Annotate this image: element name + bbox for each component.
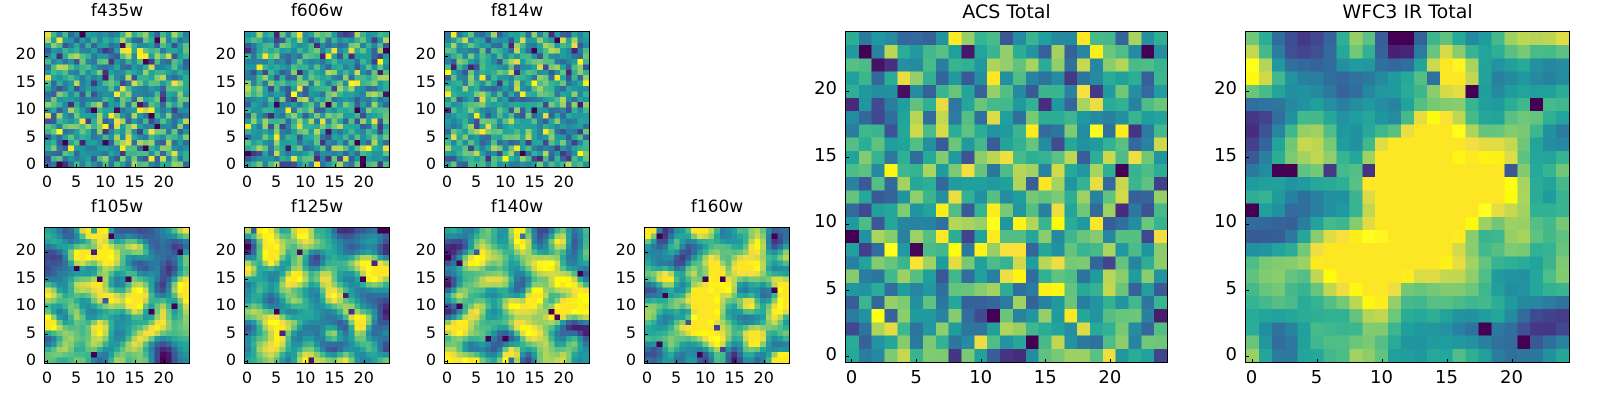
xtick-mark-f160w-15 xyxy=(735,360,736,364)
xtick-label-wfc3-ir-total-20: 20 xyxy=(1487,369,1537,387)
xtick-mark-f814w-5 xyxy=(476,164,477,168)
heatmap-image-f125w xyxy=(245,228,389,363)
ytick-label-f814w-10: 10 xyxy=(384,101,436,117)
xtick-mark-f160w-5 xyxy=(676,360,677,364)
xtick-mark-acs-total-5 xyxy=(916,359,917,363)
ytick-label-acs-total-10: 10 xyxy=(785,213,837,231)
xtick-mark-f814w-20 xyxy=(564,164,565,168)
xtick-label-f606w-20: 20 xyxy=(339,174,389,190)
xtick-label-wfc3-ir-total-0: 0 xyxy=(1227,369,1277,387)
panel-f140w: f140w0510152005101520 xyxy=(384,199,610,396)
panel-f105w: f105w0510152005101520 xyxy=(0,199,210,396)
ytick-mark-acs-total-5 xyxy=(845,290,849,291)
ytick-mark-f814w-10 xyxy=(444,110,448,111)
ytick-mark-f435w-20 xyxy=(44,56,48,57)
xtick-label-acs-total-20: 20 xyxy=(1085,369,1135,387)
xtick-label-wfc3-ir-total-10: 10 xyxy=(1357,369,1407,387)
panel-title-wfc3-ir-total: WFC3 IR Total xyxy=(1245,3,1570,22)
xtick-mark-acs-total-0 xyxy=(851,359,852,363)
ytick-label-f814w-5: 5 xyxy=(384,129,436,145)
ytick-label-f160w-15: 15 xyxy=(584,270,636,286)
ytick-label-f435w-5: 5 xyxy=(0,129,36,145)
figure-canvas: f435w0510152005101520f606w05101520051015… xyxy=(0,0,1600,400)
panel-f814w: f814w0510152005101520 xyxy=(384,3,610,200)
heatmap-axes-wfc3-ir-total xyxy=(1245,31,1570,363)
ytick-mark-f105w-20 xyxy=(44,252,48,253)
heatmap-image-f435w xyxy=(45,32,189,167)
panel-title-f606w: f606w xyxy=(244,3,390,20)
xtick-label-wfc3-ir-total-5: 5 xyxy=(1292,369,1342,387)
ytick-label-f814w-20: 20 xyxy=(384,46,436,62)
heatmap-axes-f606w xyxy=(244,31,390,168)
heatmap-axes-f125w xyxy=(244,227,390,364)
ytick-mark-f606w-10 xyxy=(244,110,248,111)
ytick-label-f435w-10: 10 xyxy=(0,101,36,117)
ytick-label-wfc3-ir-total-10: 10 xyxy=(1185,213,1237,231)
ytick-label-f435w-15: 15 xyxy=(0,74,36,90)
ytick-label-f160w-20: 20 xyxy=(584,242,636,258)
xtick-mark-f125w-10 xyxy=(305,360,306,364)
ytick-mark-f105w-5 xyxy=(44,334,48,335)
ytick-mark-f814w-5 xyxy=(444,138,448,139)
xtick-label-acs-total-5: 5 xyxy=(891,369,941,387)
panel-title-f814w: f814w xyxy=(444,3,590,20)
ytick-label-f606w-0: 0 xyxy=(184,156,236,172)
xtick-mark-wfc3-ir-total-20 xyxy=(1512,359,1513,363)
panel-f125w: f125w0510152005101520 xyxy=(184,199,410,396)
ytick-mark-acs-total-10 xyxy=(845,224,849,225)
heatmap-image-f814w xyxy=(445,32,589,167)
xtick-label-acs-total-10: 10 xyxy=(956,369,1006,387)
heatmap-image-f606w xyxy=(245,32,389,167)
panel-acs-total: ACS Total0510152005101520 xyxy=(785,3,1188,395)
xtick-mark-f435w-15 xyxy=(135,164,136,168)
ytick-label-f160w-0: 0 xyxy=(584,352,636,368)
xtick-mark-f105w-5 xyxy=(76,360,77,364)
ytick-mark-f435w-15 xyxy=(44,83,48,84)
ytick-label-f105w-20: 20 xyxy=(0,242,36,258)
panel-f435w: f435w0510152005101520 xyxy=(0,3,210,200)
ytick-label-f160w-10: 10 xyxy=(584,297,636,313)
heatmap-axes-f140w xyxy=(444,227,590,364)
ytick-mark-wfc3-ir-total-20 xyxy=(1245,91,1249,92)
xtick-label-f105w-20: 20 xyxy=(139,370,189,386)
xtick-mark-f125w-15 xyxy=(335,360,336,364)
ytick-label-f606w-10: 10 xyxy=(184,101,236,117)
xtick-mark-wfc3-ir-total-10 xyxy=(1382,359,1383,363)
xtick-mark-wfc3-ir-total-5 xyxy=(1317,359,1318,363)
panel-f160w: f160w0510152005101520 xyxy=(584,199,810,396)
ytick-label-f435w-0: 0 xyxy=(0,156,36,172)
panel-title-f140w: f140w xyxy=(444,199,590,216)
xtick-mark-f160w-10 xyxy=(705,360,706,364)
xtick-label-f140w-20: 20 xyxy=(539,370,589,386)
panel-title-f105w: f105w xyxy=(44,199,190,216)
ytick-mark-f435w-5 xyxy=(44,138,48,139)
heatmap-axes-f160w xyxy=(644,227,790,364)
ytick-label-wfc3-ir-total-20: 20 xyxy=(1185,80,1237,98)
xtick-mark-f105w-0 xyxy=(47,360,48,364)
heatmap-axes-acs-total xyxy=(845,31,1168,363)
heatmap-image-f105w xyxy=(45,228,189,363)
heatmap-image-acs-total xyxy=(846,32,1167,362)
panel-title-acs-total: ACS Total xyxy=(845,3,1168,22)
ytick-mark-f435w-10 xyxy=(44,110,48,111)
xtick-mark-f435w-0 xyxy=(47,164,48,168)
xtick-mark-f606w-5 xyxy=(276,164,277,168)
ytick-label-f105w-5: 5 xyxy=(0,325,36,341)
xtick-label-f814w-20: 20 xyxy=(539,174,589,190)
xtick-label-wfc3-ir-total-15: 15 xyxy=(1422,369,1472,387)
xtick-mark-f606w-20 xyxy=(364,164,365,168)
ytick-label-f140w-10: 10 xyxy=(384,297,436,313)
ytick-mark-f125w-20 xyxy=(244,252,248,253)
panel-title-f160w: f160w xyxy=(644,199,790,216)
ytick-mark-f160w-20 xyxy=(644,252,648,253)
xtick-mark-f125w-5 xyxy=(276,360,277,364)
ytick-label-f435w-20: 20 xyxy=(0,46,36,62)
xtick-mark-f140w-10 xyxy=(505,360,506,364)
ytick-label-f140w-15: 15 xyxy=(384,270,436,286)
xtick-mark-f814w-0 xyxy=(447,164,448,168)
ytick-label-f125w-0: 0 xyxy=(184,352,236,368)
ytick-label-f105w-0: 0 xyxy=(0,352,36,368)
ytick-label-acs-total-15: 15 xyxy=(785,147,837,165)
xtick-label-f125w-20: 20 xyxy=(339,370,389,386)
ytick-label-f814w-15: 15 xyxy=(384,74,436,90)
ytick-label-acs-total-5: 5 xyxy=(785,280,837,298)
ytick-mark-f606w-15 xyxy=(244,83,248,84)
ytick-mark-f160w-15 xyxy=(644,279,648,280)
heatmap-axes-f435w xyxy=(44,31,190,168)
heatmap-image-wfc3-ir-total xyxy=(1246,32,1569,362)
ytick-label-wfc3-ir-total-5: 5 xyxy=(1185,280,1237,298)
ytick-mark-f125w-10 xyxy=(244,306,248,307)
ytick-label-wfc3-ir-total-15: 15 xyxy=(1185,147,1237,165)
xtick-mark-f105w-20 xyxy=(164,360,165,364)
ytick-mark-acs-total-0 xyxy=(845,356,849,357)
xtick-label-f160w-20: 20 xyxy=(739,370,789,386)
ytick-label-acs-total-0: 0 xyxy=(785,346,837,364)
xtick-mark-f435w-10 xyxy=(105,164,106,168)
ytick-mark-acs-total-15 xyxy=(845,157,849,158)
xtick-mark-acs-total-15 xyxy=(1045,359,1046,363)
ytick-label-f606w-15: 15 xyxy=(184,74,236,90)
xtick-mark-wfc3-ir-total-0 xyxy=(1252,359,1253,363)
ytick-label-f140w-5: 5 xyxy=(384,325,436,341)
xtick-mark-f140w-5 xyxy=(476,360,477,364)
xtick-mark-f606w-0 xyxy=(247,164,248,168)
ytick-mark-wfc3-ir-total-15 xyxy=(1245,157,1249,158)
ytick-label-f606w-5: 5 xyxy=(184,129,236,145)
xtick-mark-f125w-20 xyxy=(364,360,365,364)
xtick-mark-f814w-10 xyxy=(505,164,506,168)
ytick-mark-f160w-5 xyxy=(644,334,648,335)
ytick-mark-f140w-10 xyxy=(444,306,448,307)
ytick-label-f125w-20: 20 xyxy=(184,242,236,258)
ytick-mark-f606w-20 xyxy=(244,56,248,57)
ytick-label-f125w-15: 15 xyxy=(184,270,236,286)
ytick-mark-f814w-20 xyxy=(444,56,448,57)
ytick-mark-f160w-10 xyxy=(644,306,648,307)
ytick-label-f606w-20: 20 xyxy=(184,46,236,62)
ytick-mark-f606w-5 xyxy=(244,138,248,139)
ytick-mark-acs-total-20 xyxy=(845,91,849,92)
ytick-mark-f140w-20 xyxy=(444,252,448,253)
xtick-mark-f435w-20 xyxy=(164,164,165,168)
xtick-mark-f814w-15 xyxy=(535,164,536,168)
ytick-mark-f125w-15 xyxy=(244,279,248,280)
xtick-mark-f160w-20 xyxy=(764,360,765,364)
xtick-mark-f140w-20 xyxy=(564,360,565,364)
ytick-mark-f140w-5 xyxy=(444,334,448,335)
ytick-mark-f814w-15 xyxy=(444,83,448,84)
xtick-label-acs-total-15: 15 xyxy=(1020,369,1070,387)
ytick-mark-wfc3-ir-total-10 xyxy=(1245,224,1249,225)
ytick-label-f105w-10: 10 xyxy=(0,297,36,313)
ytick-label-f140w-0: 0 xyxy=(384,352,436,368)
ytick-label-wfc3-ir-total-0: 0 xyxy=(1185,346,1237,364)
ytick-label-acs-total-20: 20 xyxy=(785,80,837,98)
xtick-mark-f140w-15 xyxy=(535,360,536,364)
xtick-label-f435w-20: 20 xyxy=(139,174,189,190)
panel-title-f435w: f435w xyxy=(44,3,190,20)
xtick-mark-f160w-0 xyxy=(647,360,648,364)
panel-f606w: f606w0510152005101520 xyxy=(184,3,410,200)
panel-title-f125w: f125w xyxy=(244,199,390,216)
ytick-label-f140w-20: 20 xyxy=(384,242,436,258)
heatmap-axes-f105w xyxy=(44,227,190,364)
ytick-label-f814w-0: 0 xyxy=(384,156,436,172)
ytick-mark-f105w-15 xyxy=(44,279,48,280)
ytick-mark-f125w-5 xyxy=(244,334,248,335)
ytick-mark-wfc3-ir-total-0 xyxy=(1245,356,1249,357)
heatmap-axes-f814w xyxy=(444,31,590,168)
xtick-mark-f125w-0 xyxy=(247,360,248,364)
heatmap-image-f140w xyxy=(445,228,589,363)
xtick-mark-acs-total-10 xyxy=(981,359,982,363)
xtick-mark-wfc3-ir-total-15 xyxy=(1447,359,1448,363)
xtick-mark-f105w-15 xyxy=(135,360,136,364)
xtick-mark-f606w-10 xyxy=(305,164,306,168)
heatmap-image-f160w xyxy=(645,228,789,363)
ytick-label-f160w-5: 5 xyxy=(584,325,636,341)
ytick-label-f125w-5: 5 xyxy=(184,325,236,341)
ytick-mark-f105w-10 xyxy=(44,306,48,307)
xtick-mark-f606w-15 xyxy=(335,164,336,168)
ytick-label-f105w-15: 15 xyxy=(0,270,36,286)
ytick-label-f125w-10: 10 xyxy=(184,297,236,313)
panel-wfc3-ir-total: WFC3 IR Total0510152005101520 xyxy=(1185,3,1590,395)
xtick-mark-f435w-5 xyxy=(76,164,77,168)
xtick-mark-f140w-0 xyxy=(447,360,448,364)
ytick-mark-f140w-15 xyxy=(444,279,448,280)
xtick-label-acs-total-0: 0 xyxy=(826,369,876,387)
ytick-mark-wfc3-ir-total-5 xyxy=(1245,290,1249,291)
xtick-mark-acs-total-20 xyxy=(1110,359,1111,363)
xtick-mark-f105w-10 xyxy=(105,360,106,364)
